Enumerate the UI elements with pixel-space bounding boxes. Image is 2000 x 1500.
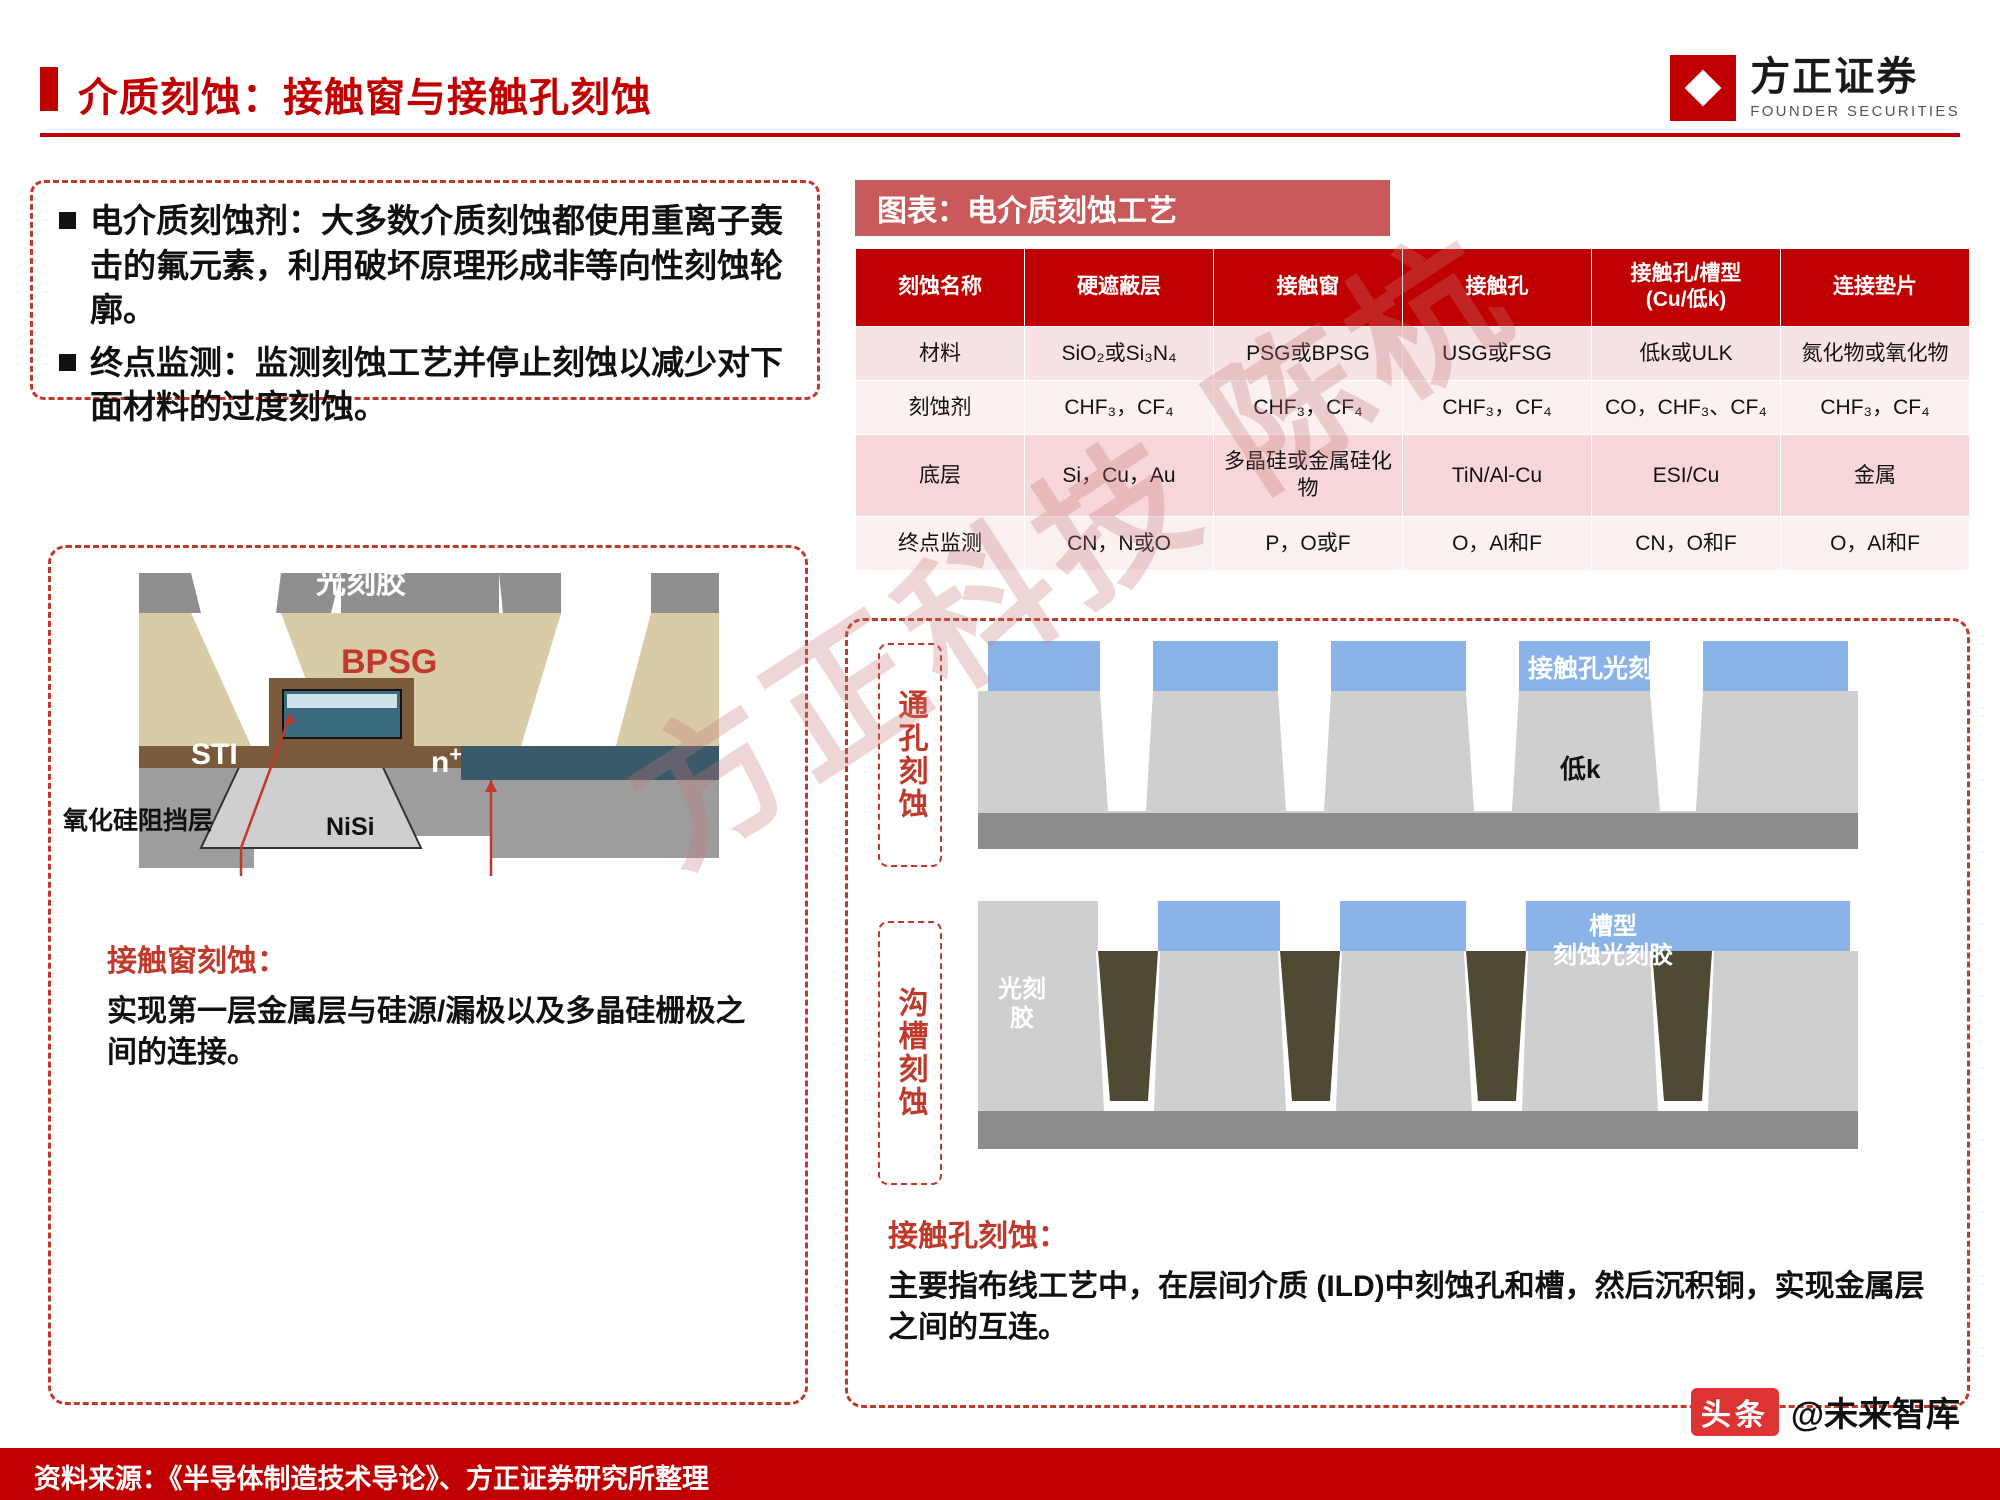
table-header-cell: 硬遮蔽层 — [1025, 249, 1214, 327]
table-cell: CN，O和F — [1592, 516, 1781, 570]
list-item: 电介质刻蚀剂：大多数介质刻蚀都使用重离子轰击的氟元素，利用破坏原理形成非等向性刻… — [51, 199, 799, 333]
page-header: 介质刻蚀：接触窗与接触孔刻蚀 方正证券 FOUNDER SECURITIES — [40, 55, 1960, 127]
table-cell: CN，N或O — [1025, 516, 1214, 570]
table-row: 底层 Si，Cu，Au 多晶硅或金属硅化物 TiN/Al-Cu ESI/Cu 金… — [856, 435, 1970, 517]
table-row: 刻蚀剂 CHF₃，CF₄ CHF₃，CF₄ CHF₃，CF₄ CO，CHF₃、C… — [856, 380, 1970, 434]
table-cell: CO，CHF₃、CF₄ — [1592, 380, 1781, 434]
bullet-square-icon — [59, 354, 76, 371]
table-cell: CHF₃，CF₄ — [1025, 380, 1214, 434]
right-caption-body: 主要指布线工艺中，在层间介质 (ILD)中刻蚀孔和槽，然后沉积铜，实现金属层之间… — [888, 1267, 1928, 1348]
dielectric-etch-table: 刻蚀名称 硬遮蔽层 接触窗 接触孔 接触孔/槽型(Cu/低k) 连接垫片 材料 … — [855, 248, 1970, 571]
table-row: 终点监测 CN，N或O P，O或F O，Al和F CN，O和F O，Al和F — [856, 516, 1970, 570]
table-banner-text: 图表：电介质刻蚀工艺 — [877, 186, 1177, 230]
table-cell: SiO₂或Si₃N₄ — [1025, 326, 1214, 380]
toutiao-badge: 头条 — [1691, 1388, 1779, 1436]
table-cell: 氮化物或氧化物 — [1781, 326, 1970, 380]
table-cell: CHF₃，CF₄ — [1214, 380, 1403, 434]
bullet-text: 终点监测：监测刻蚀工艺并停止刻蚀以减少对下面材料的过度刻蚀。 — [90, 341, 799, 430]
label-sti: STI — [191, 738, 238, 772]
contact-window-figure-box: 光刻胶 BPSG STI n+ 氧化硅阻挡层 NiSi 接触窗刻蚀： 实现第一层… — [48, 545, 808, 1405]
toutiao-credit: 头条 @未来智库 — [1691, 1387, 1960, 1436]
table-header-row: 刻蚀名称 硬遮蔽层 接触窗 接触孔 接触孔/槽型(Cu/低k) 连接垫片 — [856, 249, 1970, 327]
page-title: 介质刻蚀：接触窗与接触孔刻蚀 — [78, 65, 652, 123]
table-cell: ESI/Cu — [1592, 435, 1781, 517]
trench-etch-diagram — [978, 896, 1858, 1186]
label-bpsg: BPSG — [341, 643, 437, 682]
label-low-k: 低k — [1560, 749, 1600, 786]
side-label-via-etch: 通孔刻蚀 — [878, 643, 942, 867]
logo-name-cn: 方正证券 — [1750, 57, 1960, 97]
table-cell: CHF₃，CF₄ — [1403, 380, 1592, 434]
table-cell: 多晶硅或金属硅化物 — [1214, 435, 1403, 517]
right-caption-title: 接触孔刻蚀： — [888, 1211, 1928, 1255]
label-nisi: NiSi — [326, 813, 375, 842]
source-text: 资料来源：《半导体制造技术导论》、方正证券研究所整理 — [34, 1457, 709, 1496]
table-cell: TiN/Al-Cu — [1403, 435, 1592, 517]
table-header-cell: 接触孔/槽型(Cu/低k) — [1592, 249, 1781, 327]
table-header-cell: 刻蚀名称 — [856, 249, 1025, 327]
list-item: 终点监测：监测刻蚀工艺并停止刻蚀以减少对下面材料的过度刻蚀。 — [51, 341, 799, 430]
table-cell: O，Al和F — [1403, 516, 1592, 570]
table-cell: 低k或ULK — [1592, 326, 1781, 380]
table-cell: 金属 — [1781, 435, 1970, 517]
table-cell: O，Al和F — [1781, 516, 1970, 570]
bullet-list-box: 电介质刻蚀剂：大多数介质刻蚀都使用重离子轰击的氟元素，利用破坏原理形成非等向性刻… — [30, 180, 820, 400]
table-header-cell: 连接垫片 — [1781, 249, 1970, 327]
table-header-cell: 接触孔 — [1403, 249, 1592, 327]
bullet-text: 电介质刻蚀剂：大多数介质刻蚀都使用重离子轰击的氟元素，利用破坏原理形成非等向性刻… — [90, 199, 799, 333]
left-caption-title: 接触窗刻蚀： — [107, 936, 747, 980]
left-caption-body: 实现第一层金属层与硅源/漏极以及多晶硅栅极之间的连接。 — [107, 992, 747, 1073]
bullet-square-icon — [59, 212, 76, 229]
contact-window-cross-section-diagram — [91, 518, 845, 948]
page-footer: 资料来源：《半导体制造技术导论》、方正证券研究所整理 — [0, 1448, 2000, 1500]
label-photoresist-plug: 光刻胶 — [998, 976, 1046, 1034]
contact-hole-figure-box: 通孔刻蚀 沟槽刻蚀 接触孔光刻胶 低k — [845, 618, 1970, 1408]
table-banner: 图表：电介质刻蚀工艺 — [855, 180, 1390, 236]
title-accent-bar — [40, 67, 58, 111]
table-row-label: 刻蚀剂 — [856, 380, 1025, 434]
label-photoresist: 光刻胶 — [316, 558, 406, 602]
via-etch-diagram — [978, 636, 1858, 876]
table-row-label: 终点监测 — [856, 516, 1025, 570]
label-trench-photoresist: 槽型刻蚀光刻胶 — [1553, 913, 1673, 971]
table-header-cell: 接触窗 — [1214, 249, 1403, 327]
header-divider — [40, 133, 1960, 137]
logo-name-en: FOUNDER SECURITIES — [1750, 104, 1960, 119]
table-cell: USG或FSG — [1403, 326, 1592, 380]
table-cell: CHF₃，CF₄ — [1781, 380, 1970, 434]
label-n-plus: n+ — [431, 741, 462, 780]
label-contact-photoresist: 接触孔光刻胶 — [1528, 649, 1678, 685]
table-cell: P，O或F — [1214, 516, 1403, 570]
table-row: 材料 SiO₂或Si₃N₄ PSG或BPSG USG或FSG 低k或ULK 氮化… — [856, 326, 1970, 380]
toutiao-handle: @未来智库 — [1791, 1387, 1960, 1436]
table-row-label: 材料 — [856, 326, 1025, 380]
table-cell: PSG或BPSG — [1214, 326, 1403, 380]
side-label-trench-etch: 沟槽刻蚀 — [878, 921, 942, 1185]
label-oxide-barrier: 氧化硅阻挡层 — [63, 801, 213, 837]
table-row-label: 底层 — [856, 435, 1025, 517]
company-logo: 方正证券 FOUNDER SECURITIES — [1670, 55, 1960, 121]
table-cell: Si，Cu，Au — [1025, 435, 1214, 517]
logo-diamond-icon — [1670, 55, 1736, 121]
